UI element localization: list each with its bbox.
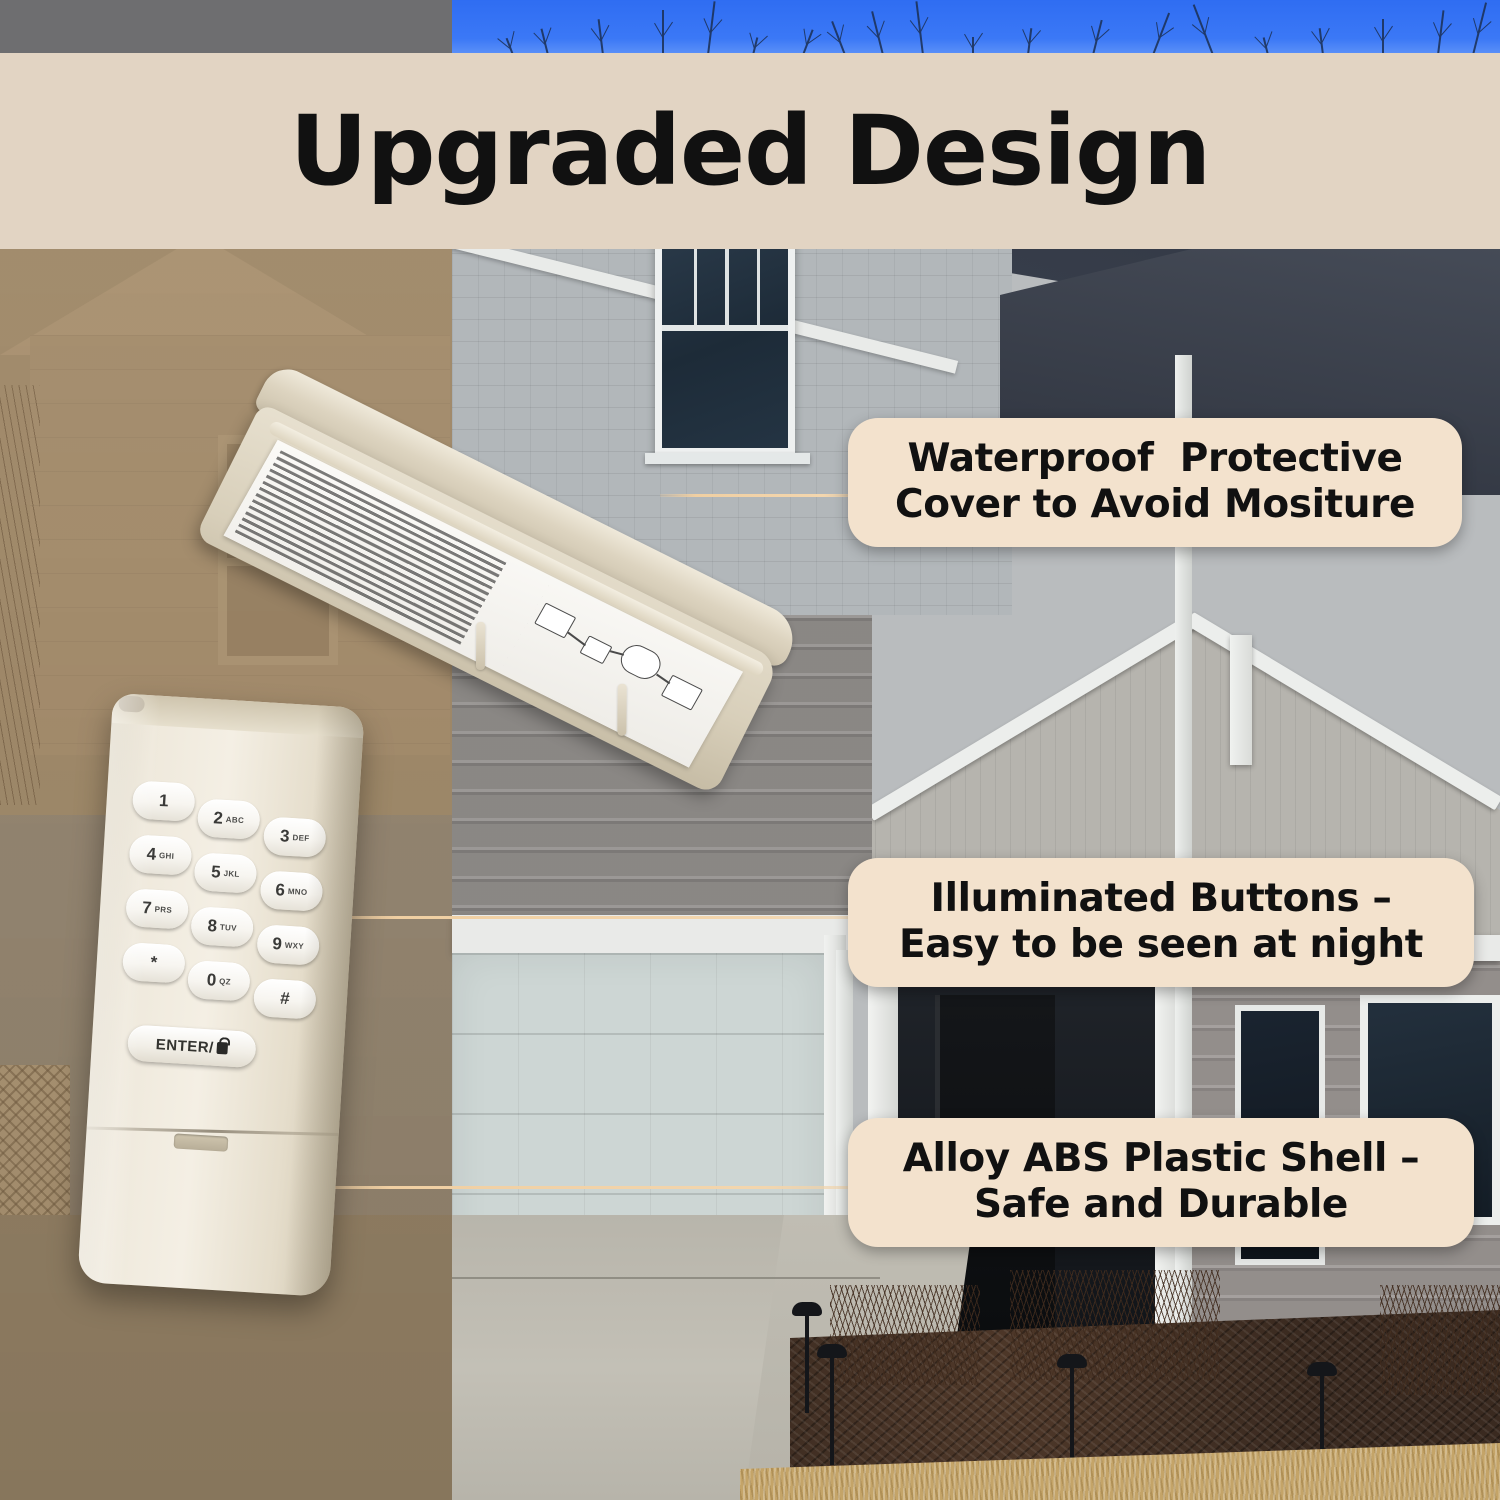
callout-1-line-1: Waterproof Protective (874, 436, 1436, 482)
sky-grey-block (0, 0, 452, 55)
keypad-body: 12ABC3DEF4GHI5JKL6MNO7PRS8TUV9WXY*0QZ# E… (77, 693, 365, 1297)
sky-branch (1319, 28, 1324, 55)
key-5[interactable]: 5JKL (193, 852, 257, 894)
sky-branch (831, 21, 846, 55)
sky-branch (915, 1, 924, 55)
callout-waterproof-cover: Waterproof Protective Cover to Avoid Mos… (848, 418, 1462, 547)
callout-3-line-2: Safe and Durable (874, 1182, 1448, 1228)
sky-branch (707, 1, 716, 55)
sky-branch (1092, 20, 1103, 55)
sky-branch (802, 29, 814, 55)
shrub-left (830, 1285, 980, 1385)
product-feature-image: 12ABC3DEF4GHI5JKL6MNO7PRS8TUV9WXY*0QZ# E… (0, 0, 1500, 1500)
key-letters: PRS (154, 904, 172, 914)
key-letters: WXY (285, 940, 305, 950)
key-letters: JKL (223, 868, 240, 878)
key-8[interactable]: 8TUV (190, 906, 254, 948)
key-number: 0 (206, 970, 217, 991)
callout-2-line-2: Easy to be seen at night (874, 922, 1448, 968)
key-letters: QZ (219, 976, 231, 986)
key-letters: MNO (288, 886, 308, 896)
callout-1-line-2: Cover to Avoid Mositure (874, 482, 1436, 528)
key-number: 6 (275, 880, 286, 901)
sky-branch (871, 11, 884, 55)
callout-abs-shell: Alloy ABS Plastic Shell – Safe and Durab… (848, 1118, 1474, 1247)
sky-blue-block (452, 0, 1500, 55)
sky-branch (1027, 28, 1032, 55)
key-number: 2 (213, 808, 224, 829)
key-2[interactable]: 2ABC (197, 798, 261, 840)
path-light-1 (805, 1313, 809, 1413)
sky-branch (1193, 4, 1214, 55)
key-letters: TUV (220, 922, 237, 932)
sky-branch (1437, 10, 1444, 55)
callout-3-line-1: Alloy ABS Plastic Shell – (874, 1136, 1448, 1182)
battery-cover-latch[interactable] (174, 1133, 229, 1151)
garage-door-keypad-product: 12ABC3DEF4GHI5JKL6MNO7PRS8TUV9WXY*0QZ# E… (70, 300, 770, 1300)
cover-rib-2 (617, 684, 626, 736)
key-number: 1 (158, 791, 169, 812)
shrub-right (1380, 1285, 1500, 1395)
sky-branch (1152, 13, 1170, 55)
callout-illuminated-buttons: Illuminated Buttons – Easy to be seen at… (848, 858, 1474, 987)
enter-key-label: ENTER/ (155, 1036, 214, 1057)
key-number: 3 (279, 826, 290, 847)
callout-2-line-1: Illuminated Buttons – (874, 876, 1448, 922)
gable-bracket (1230, 635, 1252, 765)
cover-rib-1 (476, 622, 485, 670)
sky-branch (662, 10, 664, 55)
title-banner: Upgraded Design (0, 53, 1500, 249)
sky-branch (598, 19, 604, 55)
sky-branch (1472, 2, 1487, 55)
shrub-mid (1010, 1270, 1220, 1380)
path-light-2 (830, 1355, 834, 1465)
lock-icon (216, 1042, 228, 1055)
key-letters: DEF (292, 833, 309, 843)
sky-branch (540, 29, 548, 55)
page-title: Upgraded Design (290, 103, 1210, 199)
enter-key[interactable]: ENTER/ (127, 1024, 257, 1068)
key-0[interactable]: 0QZ (187, 960, 251, 1002)
key-number: 8 (207, 916, 218, 937)
key-number: 9 (272, 934, 283, 955)
key-number: 5 (211, 862, 222, 883)
key-letters: GHI (159, 850, 175, 860)
key-letters: ABC (226, 814, 245, 824)
sky-branch (1382, 19, 1384, 55)
key-number: * (150, 953, 158, 973)
key-number: # (280, 989, 291, 1010)
